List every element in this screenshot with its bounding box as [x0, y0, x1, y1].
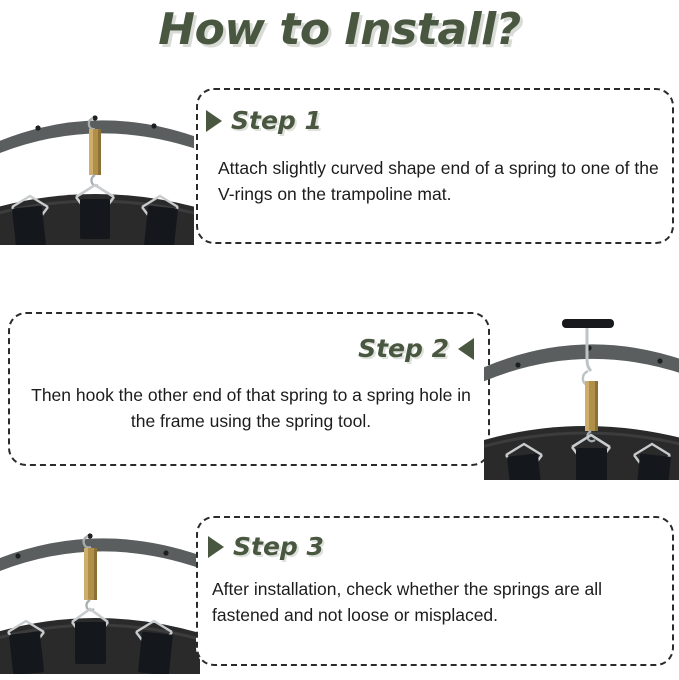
page-title: How to Install? [0, 4, 679, 55]
step-3-heading: Step 3 [208, 534, 324, 559]
frame-hole [657, 358, 662, 363]
spring-coil [84, 548, 97, 600]
step-3-body-text: After installation, check whether the sp… [212, 576, 664, 629]
step-2-text-box: Step 2 Then hook the other end of that s… [8, 312, 490, 466]
mat-tab [80, 199, 110, 239]
frame-hole [15, 553, 20, 558]
frame-hole [35, 125, 40, 130]
trampoline-frame-arc [0, 538, 200, 575]
step-2-illustration [484, 305, 679, 480]
mat-tab [636, 454, 671, 480]
frame-hole [515, 362, 520, 367]
mat-tab [12, 206, 46, 245]
step-1-heading-label: Step 1 [231, 108, 322, 133]
frame-hole [87, 533, 92, 538]
frame-hole [92, 115, 97, 120]
step-1-illustration [0, 93, 194, 245]
trampoline-spring-tool-illustration [484, 305, 679, 480]
frame-hole [163, 550, 168, 555]
mat-tab [138, 632, 173, 674]
mat-tab [144, 206, 178, 245]
step-3-text-box: Step 3 After installation, check whether… [196, 516, 674, 666]
trampoline-frame-arc [484, 344, 679, 383]
frame-hole [151, 123, 156, 128]
step-1-text-box: Step 1 Attach slightly curved shape end … [196, 88, 674, 244]
spring-tool-t-handle [562, 319, 614, 328]
mat-tab [9, 631, 44, 674]
spring-coil [585, 381, 598, 431]
step-2-body-text: Then hook the other end of that spring t… [24, 382, 478, 435]
trampoline-spring-installed-illustration [0, 512, 200, 674]
step-2-heading-label: Step 2 [358, 336, 449, 361]
triangle-left-icon [458, 338, 474, 360]
trampoline-spring-vring-illustration [0, 93, 194, 245]
step-3-illustration [0, 512, 200, 674]
step-2-heading: Step 2 [358, 336, 474, 361]
triangle-right-icon [208, 536, 224, 558]
spring-coil [89, 129, 101, 175]
step-1-body-text: Attach slightly curved shape end of a sp… [218, 155, 662, 208]
mat-tab [576, 448, 607, 480]
mat-tab [507, 453, 542, 480]
how-to-install-infographic: How to Install? [0, 0, 679, 680]
step-3-heading-label: Step 3 [233, 534, 324, 559]
mat-tab [75, 622, 106, 664]
step-1-heading: Step 1 [206, 108, 322, 133]
triangle-right-icon [206, 110, 222, 132]
